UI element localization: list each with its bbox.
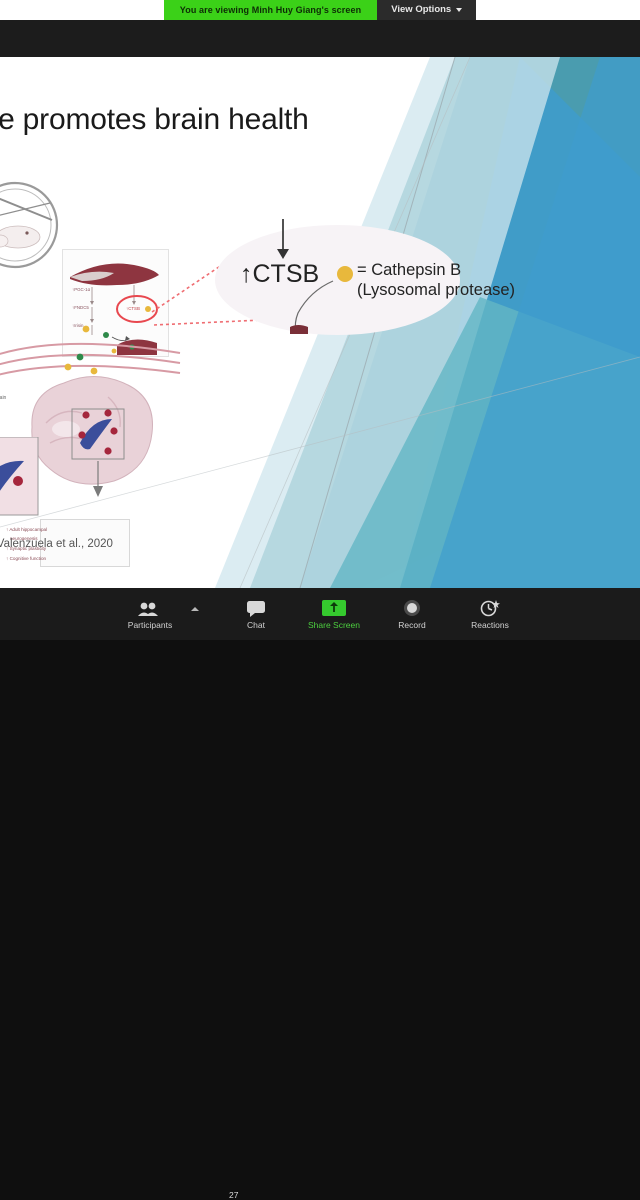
share-screen-label: Share Screen [308,620,360,630]
chat-label: Chat [247,620,265,630]
reactions-button[interactable]: Reactions [451,588,529,640]
participants-icon: ​ [137,598,163,617]
record-button[interactable]: Record [373,588,451,640]
brain-edge-label: rain [0,395,6,401]
participants-group[interactable]: ​ Participants 27 [111,588,217,640]
outcome-line-4: ↑ Cognitive function [6,556,46,561]
muscle-label-ctsb: ↑CTSB [126,306,140,311]
callout-vessel-graphic [278,279,338,334]
downward-arrow-icon [272,219,294,261]
zoom-meeting-toolbar: ​ Participants 27 Chat Share Screen [0,588,640,640]
record-icon [403,598,421,617]
cathepsin-legend: = Cathepsin B (Lysosomal protease) [357,260,515,300]
chat-button[interactable]: Chat [217,588,295,640]
legend-line-1: = Cathepsin B [357,260,515,280]
reactions-icon [480,598,500,617]
legend-line-2: (Lysosomal protease) [357,280,515,300]
share-screen-icon [321,598,347,617]
participants-label: Participants [128,620,172,630]
participants-count: 27 [229,1190,238,1200]
shared-screen-slide[interactable]: cise promotes brain health ↑PGC-1α ↑FNDC… [0,57,640,588]
zoom-top-bar: You are viewing Minh Huy Giang's screen … [0,0,640,20]
outcome-line-1: ↑ Adult hippocampal [6,527,47,532]
record-label: Record [398,620,425,630]
page-title: cise promotes brain health [0,103,309,137]
hippocampus-inset [0,437,40,517]
running-wheel-illustration [0,165,70,275]
citation-text: 019 / Valenzuela et al., 2020 [0,538,113,550]
participants-button[interactable]: ​ Participants [111,588,189,640]
reactions-label: Reactions [471,620,509,630]
view-options-button[interactable]: View Options [377,0,476,20]
chevron-down-icon [456,8,462,12]
view-options-label: View Options [391,0,451,20]
letterbox-band [0,20,640,57]
chevron-up-icon[interactable] [191,607,199,611]
muscle-label-fndc5: ↑FNDC5 [72,305,89,310]
share-screen-button[interactable]: Share Screen [295,588,373,640]
muscle-label-pgc1a: ↑PGC-1α [72,287,90,292]
viewing-screen-banner: You are viewing Minh Huy Giang's screen [164,0,377,20]
yellow-dot-icon [337,266,353,282]
chat-icon [246,598,266,617]
